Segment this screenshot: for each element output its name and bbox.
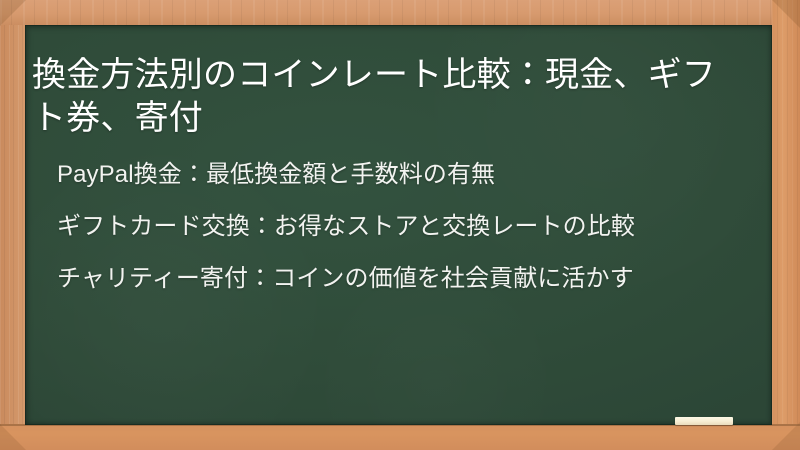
chalkboard-content: 換金方法別のコインレート比較：現金、ギフト券、寄付 PayPal換金：最低換金額… <box>25 25 772 425</box>
frame-top-rail <box>0 0 800 25</box>
slide-bullet-list: PayPal換金：最低換金額と手数料の有無 ギフトカード交換：お得なストアと交換… <box>57 157 757 297</box>
bullet-item-3: チャリティー寄付：コインの価値を社会貢献に活かす <box>57 261 757 297</box>
frame-right-rail <box>772 0 800 450</box>
slide-title: 換金方法別のコインレート比較：現金、ギフト券、寄付 <box>32 54 750 140</box>
frame-bottom-ledge <box>0 424 800 450</box>
chalkboard-surface: 換金方法別のコインレート比較：現金、ギフト券、寄付 PayPal換金：最低換金額… <box>25 25 772 425</box>
bullet-item-1: PayPal換金：最低換金額と手数料の有無 <box>57 157 757 193</box>
chalkboard-slide: 換金方法別のコインレート比較：現金、ギフト券、寄付 PayPal換金：最低換金額… <box>0 0 800 450</box>
bullet-item-2: ギフトカード交換：お得なストアと交換レートの比較 <box>57 209 757 245</box>
chalk-stick <box>675 417 733 425</box>
